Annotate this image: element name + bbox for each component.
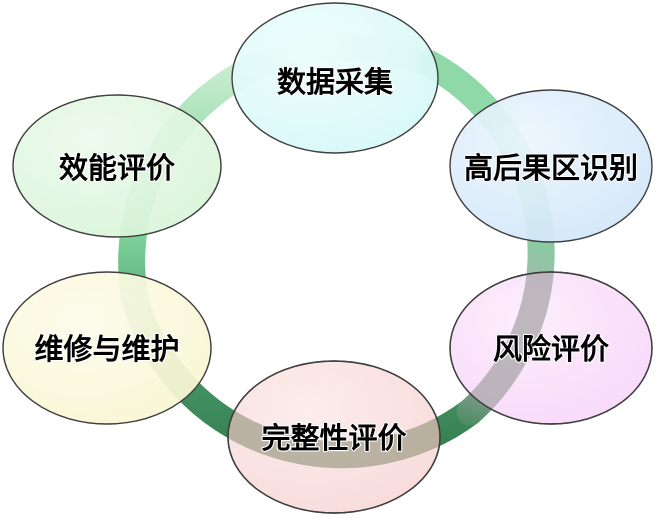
- node-integrity-assessment-label: 完整性评价: [261, 421, 407, 455]
- node-high-consequence-area-label: 高后果区识别: [464, 151, 638, 185]
- node-high-consequence-area[interactable]: 高后果区识别: [450, 90, 652, 242]
- node-repair-maintenance-label: 维修与维护: [34, 332, 179, 366]
- node-performance-assessment-label: 效能评价: [59, 151, 176, 185]
- node-data-collection[interactable]: 数据采集: [232, 3, 438, 153]
- node-risk-assessment-label: 风险评价: [493, 332, 610, 366]
- node-repair-maintenance[interactable]: 维修与维护: [3, 272, 211, 424]
- node-data-collection-label: 数据采集: [277, 65, 394, 99]
- cycle-diagram-canvas: 效能评价 数据采集 高后果区识别 维修与维护 风险评价: [0, 0, 658, 518]
- cycle-diagram: 效能评价 数据采集 高后果区识别 维修与维护 风险评价: [0, 0, 658, 518]
- node-performance-assessment[interactable]: 效能评价: [13, 95, 221, 237]
